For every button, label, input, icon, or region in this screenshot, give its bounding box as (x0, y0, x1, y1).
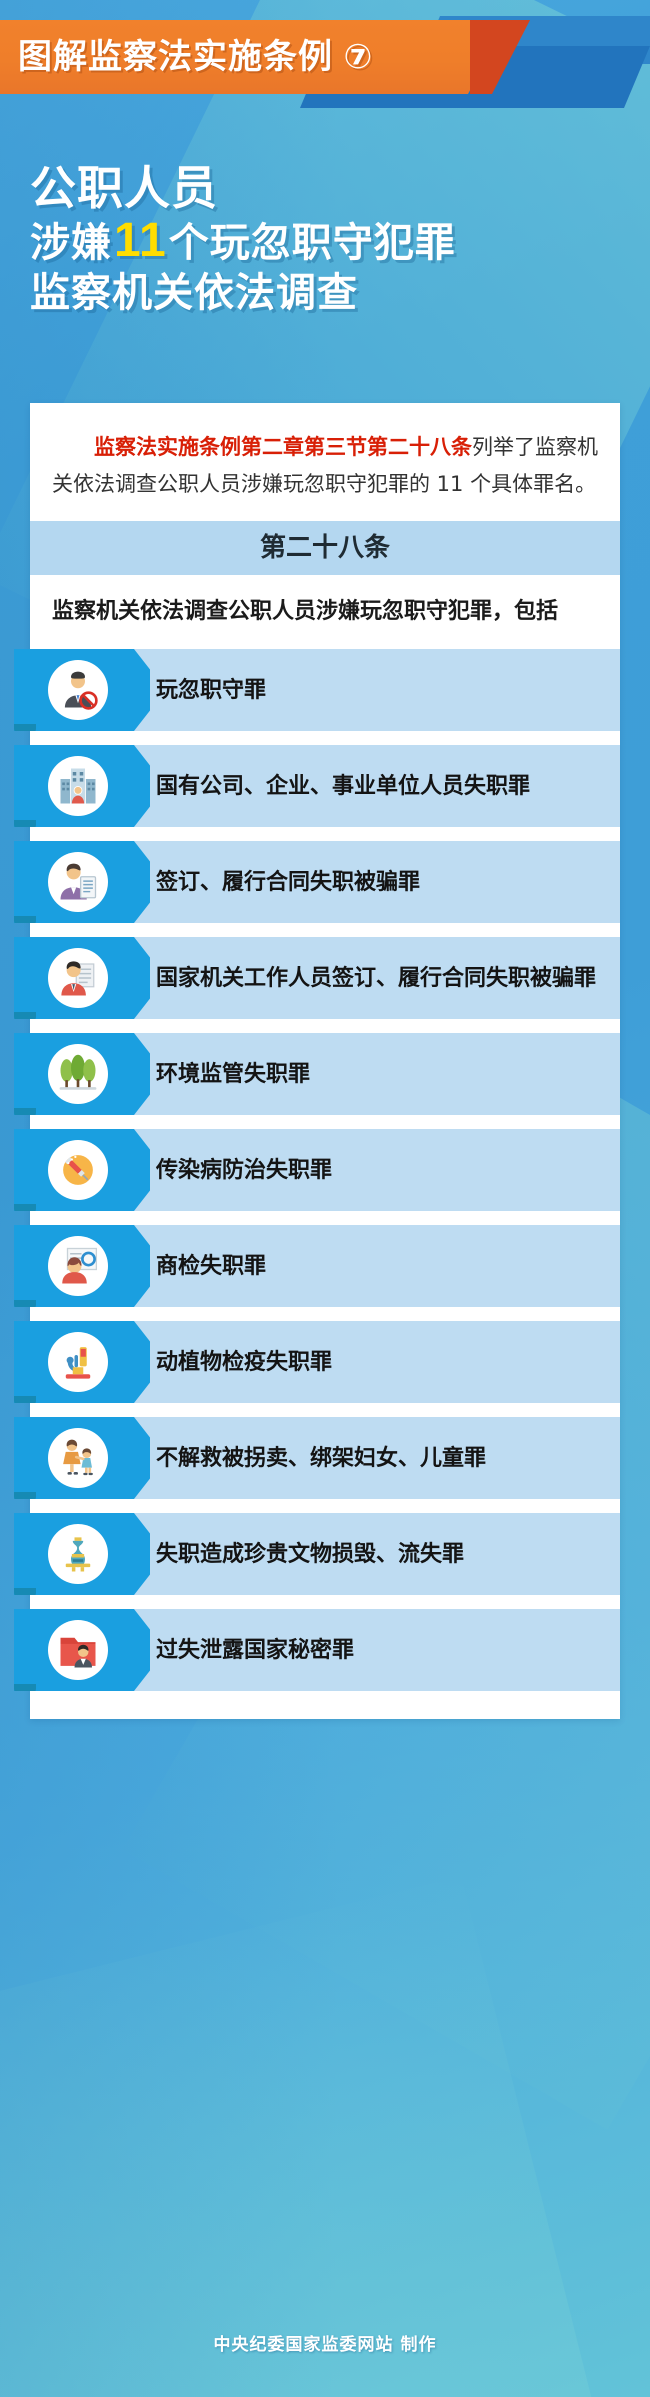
headline-line-2-before: 涉嫌 (30, 221, 112, 265)
official-with-document-icon (48, 948, 108, 1008)
intro-red-1: 监察法实施条例第二章第三节第 (94, 435, 388, 459)
crime-item-label: 签订、履行合同失职被骗罪 (150, 841, 620, 923)
headline-line-1: 公职人员 (30, 160, 630, 216)
microscope-quarantine-icon (48, 1332, 108, 1392)
top-banner: 图解监察法实施条例 ⑦ (0, 0, 650, 118)
content-card: 监察法实施条例第二章第三节第二十八条列举了监察机关依法调查公职人员涉嫌玩忽职守犯… (30, 403, 620, 1719)
article-lead-text: 监察机关依法调查公职人员涉嫌玩忽职守犯罪，包括 (30, 575, 620, 649)
headline-line-3: 监察机关依法调查 (30, 268, 630, 318)
ancient-vase-relic-icon (48, 1524, 108, 1584)
headline-line-2-after: 个玩忽职守犯罪 (169, 221, 456, 265)
crime-list-item[interactable]: 商检失职罪 (30, 1225, 620, 1307)
crime-list-item[interactable]: 传染病防治失职罪 (30, 1129, 620, 1211)
woman-and-child-icon (48, 1428, 108, 1488)
article-header: 第二十八条 (30, 521, 620, 575)
crime-item-tab (14, 745, 150, 827)
headline-line-2: 涉嫌11个玩忽职守犯罪 (30, 216, 630, 268)
crime-item-label: 传染病防治失职罪 (150, 1129, 620, 1211)
crime-item-label: 失职造成珍贵文物损毁、流失罪 (150, 1513, 620, 1595)
crime-list-item[interactable]: 签订、履行合同失职被骗罪 (30, 841, 620, 923)
crime-item-label: 不解救被拐卖、绑架妇女、儿童罪 (150, 1417, 620, 1499)
footer-credit: 中央纪委国家监委网站 制作 (0, 2330, 650, 2355)
crime-item-tab (14, 1129, 150, 1211)
crime-item-tab (14, 1225, 150, 1307)
syringe-vaccine-icon (48, 1140, 108, 1200)
inspector-presentation-icon (48, 1236, 108, 1296)
crime-item-label: 国有公司、企业、事业单位人员失职罪 (150, 745, 620, 827)
crime-item-tab (14, 1609, 150, 1691)
intro-red-2: 二十八条 (388, 435, 472, 459)
crime-item-tab (14, 1513, 150, 1595)
crime-item-label: 过失泄露国家秘密罪 (150, 1609, 620, 1691)
crime-list-item[interactable]: 玩忽职守罪 (30, 649, 620, 731)
crime-list-item[interactable]: 失职造成珍贵文物损毁、流失罪 (30, 1513, 620, 1595)
intro-paragraph: 监察法实施条例第二章第三节第二十八条列举了监察机关依法调查公职人员涉嫌玩忽职守犯… (30, 403, 620, 521)
crime-item-tab (14, 1321, 150, 1403)
headline-number: 11 (112, 214, 169, 267)
crime-list-item[interactable]: 国家机关工作人员签订、履行合同失职被骗罪 (30, 937, 620, 1019)
crime-item-tab (14, 649, 150, 731)
crime-item-tab (14, 937, 150, 1019)
crime-item-label: 国家机关工作人员签订、履行合同失职被骗罪 (150, 937, 620, 1019)
secret-file-folder-icon (48, 1620, 108, 1680)
crime-list-item[interactable]: 过失泄露国家秘密罪 (30, 1609, 620, 1691)
office-building-icon (48, 756, 108, 816)
infographic-page: 图解监察法实施条例 ⑦ 公职人员 涉嫌11个玩忽职守犯罪 监察机关依法调查 监察… (0, 0, 650, 2397)
crime-list: 玩忽职守罪国有公司、企业、事业单位人员失职罪签订、履行合同失职被骗罪国家机关工作… (30, 649, 620, 1691)
crime-item-tab (14, 841, 150, 923)
crime-item-label: 玩忽职守罪 (150, 649, 620, 731)
banner-title: 图解监察法实施条例 ⑦ (18, 28, 373, 86)
crime-item-label: 环境监管失职罪 (150, 1033, 620, 1115)
crime-item-label: 商检失职罪 (150, 1225, 620, 1307)
crime-item-tab (14, 1417, 150, 1499)
man-with-contract-icon (48, 852, 108, 912)
crime-list-item[interactable]: 不解救被拐卖、绑架妇女、儿童罪 (30, 1417, 620, 1499)
crime-list-item[interactable]: 环境监管失职罪 (30, 1033, 620, 1115)
crime-list-item[interactable]: 国有公司、企业、事业单位人员失职罪 (30, 745, 620, 827)
headline-block: 公职人员 涉嫌11个玩忽职守犯罪 监察机关依法调查 (30, 160, 630, 318)
trees-environment-icon (48, 1044, 108, 1104)
crime-list-item[interactable]: 动植物检疫失职罪 (30, 1321, 620, 1403)
crime-item-label: 动植物检疫失职罪 (150, 1321, 620, 1403)
crime-item-tab (14, 1033, 150, 1115)
official-man-prohibited-icon (48, 660, 108, 720)
